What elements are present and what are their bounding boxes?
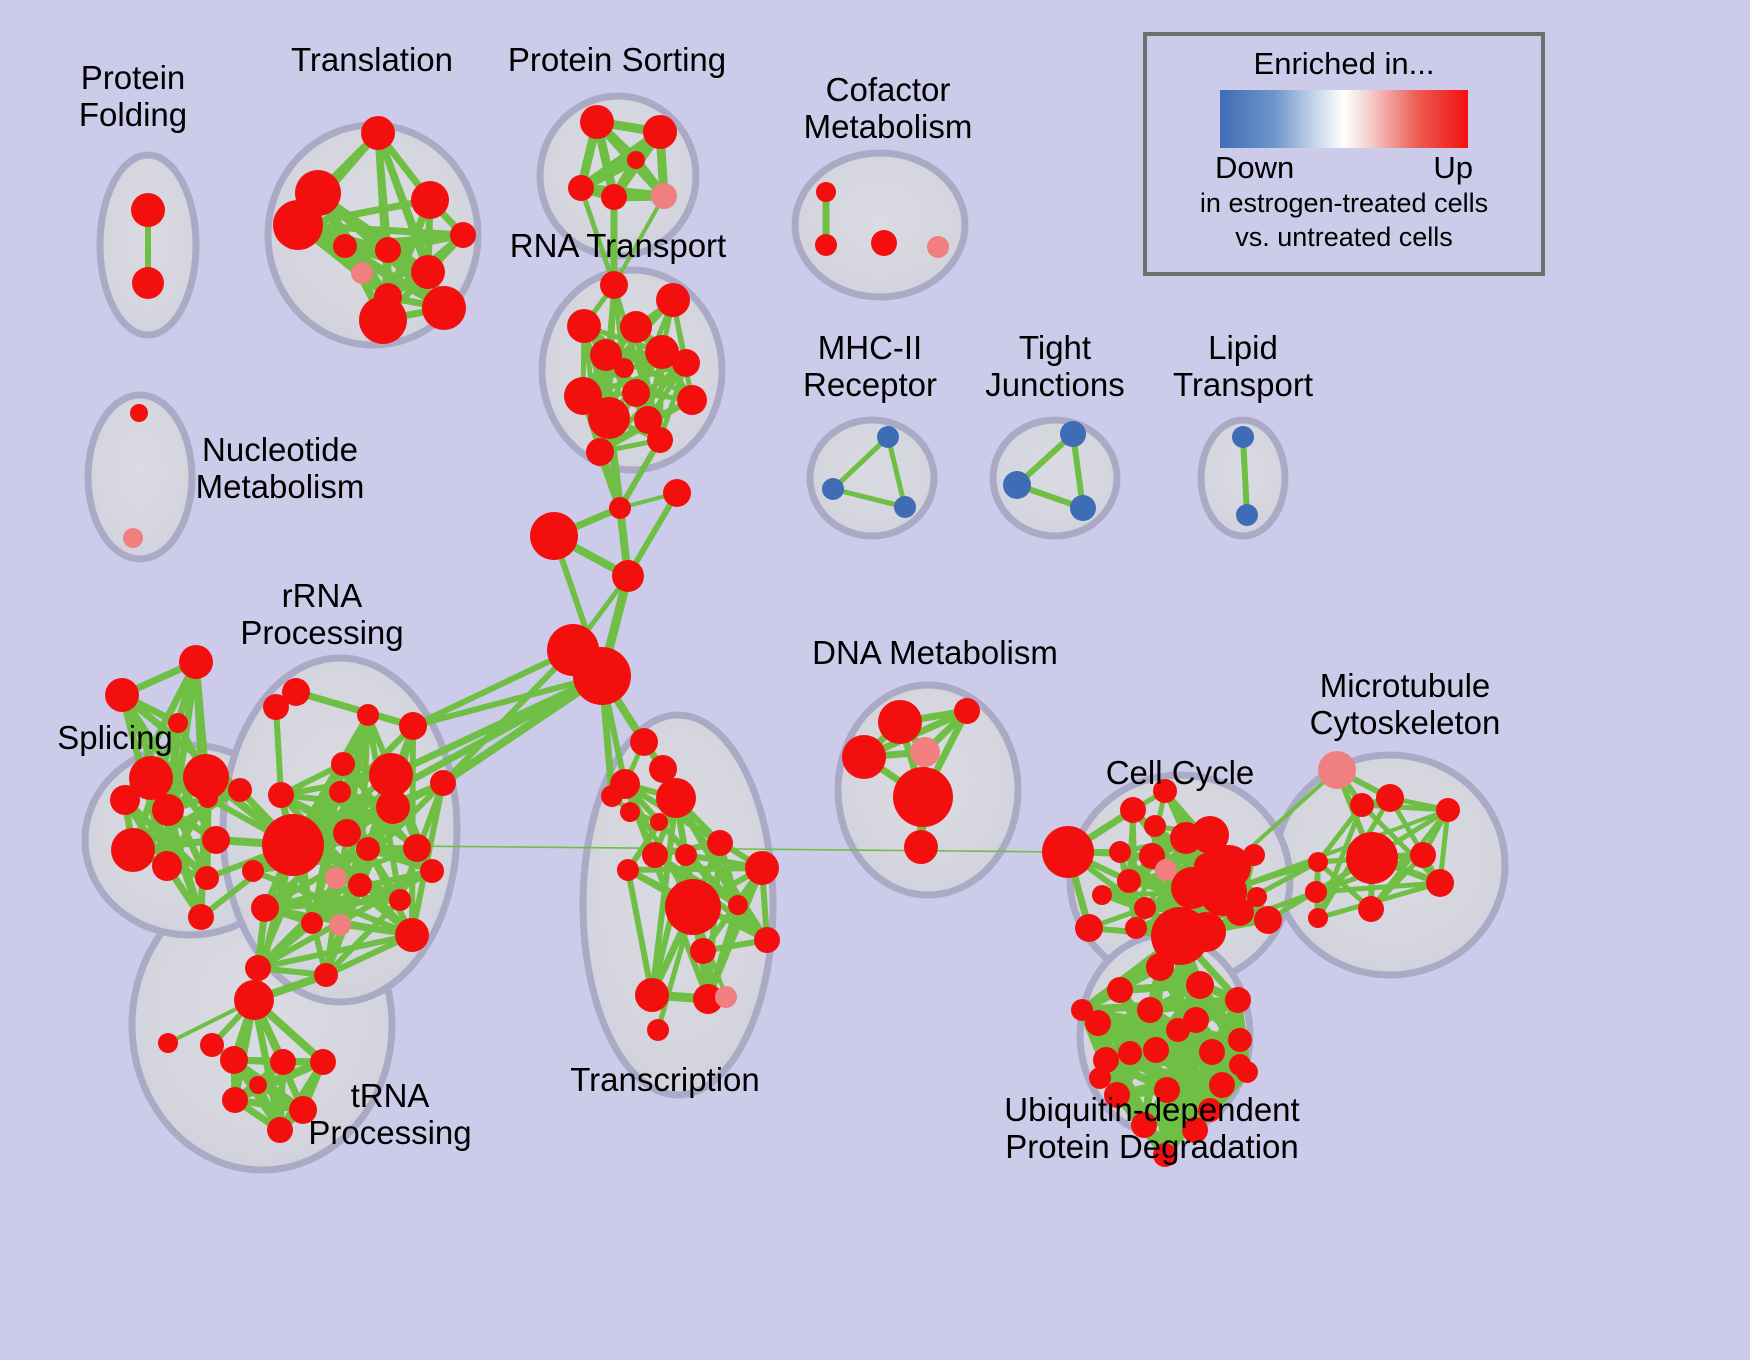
network-node[interactable] [878, 700, 922, 744]
network-node[interactable] [1254, 906, 1282, 934]
cluster-label-rrna-processing: rRNA Processing [240, 578, 403, 652]
network-node[interactable] [411, 181, 449, 219]
network-node[interactable] [663, 479, 691, 507]
network-node[interactable] [403, 834, 431, 862]
network-node[interactable] [816, 182, 836, 202]
network-node[interactable] [158, 1033, 178, 1053]
network-node[interactable] [1137, 997, 1163, 1023]
network-node[interactable] [1376, 784, 1404, 812]
network-node[interactable] [1134, 897, 1156, 919]
network-node[interactable] [325, 867, 347, 889]
network-node[interactable] [422, 286, 466, 330]
network-node[interactable] [1070, 495, 1096, 521]
network-node[interactable] [132, 267, 164, 299]
cluster-label-transcription: Transcription [570, 1062, 760, 1099]
network-node[interactable] [1146, 953, 1174, 981]
network-node[interactable] [588, 397, 630, 439]
legend-box: Enriched in... Down Up in estrogen-treat… [1143, 32, 1545, 276]
network-node[interactable] [198, 788, 218, 808]
network-node[interactable] [1243, 844, 1265, 866]
network-node[interactable] [1186, 912, 1226, 952]
network-node[interactable] [656, 778, 696, 818]
network-node[interactable] [1226, 898, 1254, 926]
network-node[interactable] [614, 358, 634, 378]
network-node[interactable] [910, 737, 940, 767]
network-node[interactable] [1060, 421, 1086, 447]
network-node[interactable] [130, 404, 148, 422]
cluster-label-nucleotide-metabolism: Nucleotide Metabolism [196, 432, 365, 506]
network-node[interactable] [871, 230, 897, 256]
network-node[interactable] [647, 427, 673, 453]
network-node[interactable] [375, 237, 401, 263]
network-node[interactable] [411, 255, 445, 289]
network-node[interactable] [200, 1033, 224, 1057]
network-node[interactable] [894, 496, 916, 518]
network-node[interactable] [904, 830, 938, 864]
network-node[interactable] [1117, 869, 1141, 893]
network-node[interactable] [220, 1046, 248, 1074]
network-node[interactable] [609, 497, 631, 519]
network-node[interactable] [954, 698, 980, 724]
network-node[interactable] [1144, 815, 1166, 837]
network-node[interactable] [601, 785, 623, 807]
network-node[interactable] [620, 311, 652, 343]
network-node[interactable] [1118, 1041, 1142, 1065]
network-node[interactable] [389, 889, 411, 911]
cluster-label-lipid-transport: Lipid Transport [1173, 330, 1313, 404]
network-node[interactable] [1120, 797, 1146, 823]
network-node[interactable] [301, 912, 323, 934]
network-node[interactable] [1125, 917, 1147, 939]
network-node[interactable] [707, 830, 733, 856]
network-node[interactable] [152, 851, 182, 881]
network-node[interactable] [395, 918, 429, 952]
network-node[interactable] [310, 1049, 336, 1075]
network-node[interactable] [329, 781, 351, 803]
network-node[interactable] [656, 283, 690, 317]
network-node[interactable] [1186, 971, 1214, 999]
network-node[interactable] [1107, 977, 1133, 1003]
network-node[interactable] [105, 678, 139, 712]
network-node[interactable] [690, 938, 716, 964]
network-node[interactable] [1305, 881, 1327, 903]
network-node[interactable] [600, 271, 628, 299]
network-node[interactable] [1194, 853, 1220, 879]
network-node[interactable] [202, 826, 230, 854]
cluster-label-protein-sorting: Protein Sorting [508, 42, 726, 79]
network-node[interactable] [270, 1049, 296, 1075]
network-node[interactable] [635, 978, 669, 1012]
legend-caption-line2: vs. untreated cells [1235, 222, 1453, 254]
network-node[interactable] [356, 837, 380, 861]
legend-caption-line1: in estrogen-treated cells [1200, 188, 1488, 220]
legend-color-gradient-bar [1220, 90, 1468, 148]
network-node[interactable] [1308, 852, 1328, 872]
network-node[interactable] [245, 955, 271, 981]
network-node[interactable] [643, 115, 677, 149]
network-node[interactable] [179, 645, 213, 679]
cluster-label-dna-metabolism: DNA Metabolism [812, 635, 1058, 672]
network-node[interactable] [630, 728, 658, 756]
network-node[interactable] [333, 819, 361, 847]
legend-down-label: Down [1215, 150, 1294, 186]
network-node[interactable] [262, 814, 324, 876]
network-node[interactable] [1071, 999, 1093, 1021]
network-node[interactable] [263, 694, 289, 720]
network-node[interactable] [677, 385, 707, 415]
network-node[interactable] [927, 236, 949, 258]
network-edge [628, 868, 762, 870]
network-node[interactable] [822, 478, 844, 500]
cluster-label-cell-cycle: Cell Cycle [1106, 755, 1255, 792]
network-node[interactable] [420, 859, 444, 883]
network-node[interactable] [348, 873, 372, 897]
network-node[interactable] [627, 151, 645, 169]
network-node[interactable] [314, 963, 338, 987]
legend-title: Enriched in... [1254, 46, 1435, 82]
network-node[interactable] [1308, 908, 1328, 928]
network-node[interactable] [1346, 832, 1398, 884]
network-node[interactable] [267, 1117, 293, 1143]
network-node[interactable] [268, 782, 294, 808]
network-node[interactable] [815, 234, 837, 256]
cluster-label-ubiquitin-protein-degradation: Ubiquitin-dependent Protein Degradation [1004, 1092, 1299, 1166]
network-node[interactable] [1143, 1037, 1169, 1063]
network-node[interactable] [1410, 842, 1436, 868]
legend-endpoint-labels: Down Up [1215, 150, 1473, 186]
network-node[interactable] [1436, 798, 1460, 822]
network-node[interactable] [728, 895, 748, 915]
network-node[interactable] [715, 986, 737, 1008]
network-node[interactable] [1166, 1018, 1190, 1042]
network-node[interactable] [620, 802, 640, 822]
network-node[interactable] [1089, 1067, 1111, 1089]
cluster-label-mhc-ii-receptor: MHC-II Receptor [803, 330, 937, 404]
network-node[interactable] [842, 735, 886, 779]
network-node[interactable] [1229, 1054, 1251, 1076]
network-node[interactable] [1228, 1028, 1252, 1052]
network-node[interactable] [1318, 751, 1356, 789]
cluster-hull-cofactor-metabolism [795, 153, 965, 297]
network-node[interactable] [234, 980, 274, 1020]
cluster-label-tight-junctions: Tight Junctions [985, 330, 1124, 404]
network-node[interactable] [110, 785, 140, 815]
network-node[interactable] [745, 851, 779, 885]
network-node[interactable] [893, 767, 953, 827]
network-node[interactable] [195, 866, 219, 890]
cluster-label-translation: Translation [291, 42, 453, 79]
network-node[interactable] [1236, 504, 1258, 526]
network-node[interactable] [333, 234, 357, 258]
network-node[interactable] [601, 184, 627, 210]
network-node[interactable] [617, 859, 639, 881]
network-node[interactable] [1003, 471, 1031, 499]
network-node[interactable] [1426, 869, 1454, 897]
network-node[interactable] [361, 116, 395, 150]
network-node[interactable] [1232, 426, 1254, 448]
network-node[interactable] [754, 927, 780, 953]
network-node[interactable] [376, 790, 410, 824]
network-node[interactable] [1109, 841, 1131, 863]
network-node[interactable] [123, 528, 143, 548]
cluster-label-cofactor-metabolism: Cofactor Metabolism [804, 72, 973, 146]
network-node[interactable] [1225, 987, 1251, 1013]
network-node[interactable] [222, 1087, 248, 1113]
network-node[interactable] [251, 894, 279, 922]
enrichment-map-figure: Protein Folding Translation Protein Sort… [0, 0, 1750, 1360]
network-node[interactable] [580, 105, 614, 139]
network-node[interactable] [877, 426, 899, 448]
network-node[interactable] [567, 309, 601, 343]
cluster-hull-mhc-ii-receptor [810, 420, 934, 536]
network-node[interactable] [351, 262, 373, 284]
network-node[interactable] [399, 712, 427, 740]
network-node[interactable] [152, 794, 184, 826]
network-node[interactable] [273, 200, 323, 250]
network-node[interactable] [331, 752, 355, 776]
network-node[interactable] [651, 183, 677, 209]
cluster-label-trna-processing: tRNA Processing [308, 1078, 471, 1152]
network-node[interactable] [1092, 885, 1112, 905]
network-node[interactable] [1042, 826, 1094, 878]
network-node[interactable] [1075, 914, 1103, 942]
network-node[interactable] [1358, 896, 1384, 922]
network-node[interactable] [586, 438, 614, 466]
network-node[interactable] [430, 770, 456, 796]
network-node[interactable] [329, 914, 351, 936]
network-node[interactable] [650, 813, 668, 831]
cluster-label-splicing: Splicing [57, 720, 173, 757]
network-node[interactable] [359, 296, 407, 344]
network-node[interactable] [1350, 793, 1374, 817]
network-node[interactable] [642, 842, 668, 868]
network-node[interactable] [131, 193, 165, 227]
network-node[interactable] [242, 860, 264, 882]
network-edge [1243, 437, 1247, 515]
network-node[interactable] [672, 349, 700, 377]
cluster-label-protein-folding: Protein Folding [79, 60, 187, 134]
cluster-label-microtubule-cytoskeleton: Microtubule Cytoskeleton [1310, 668, 1501, 742]
network-node[interactable] [622, 379, 650, 407]
network-node[interactable] [647, 1019, 669, 1041]
network-node[interactable] [450, 222, 476, 248]
network-node[interactable] [1199, 1039, 1225, 1065]
network-node[interactable] [665, 879, 721, 935]
cluster-label-rna-transport: RNA Transport [510, 228, 726, 265]
network-node[interactable] [188, 904, 214, 930]
network-node[interactable] [357, 704, 379, 726]
network-node[interactable] [111, 828, 155, 872]
network-node[interactable] [612, 560, 644, 592]
network-node[interactable] [573, 647, 631, 705]
network-node[interactable] [228, 778, 252, 802]
network-node[interactable] [568, 175, 594, 201]
network-node[interactable] [675, 844, 697, 866]
network-node[interactable] [530, 512, 578, 560]
network-node[interactable] [249, 1076, 267, 1094]
legend-up-label: Up [1433, 150, 1473, 186]
